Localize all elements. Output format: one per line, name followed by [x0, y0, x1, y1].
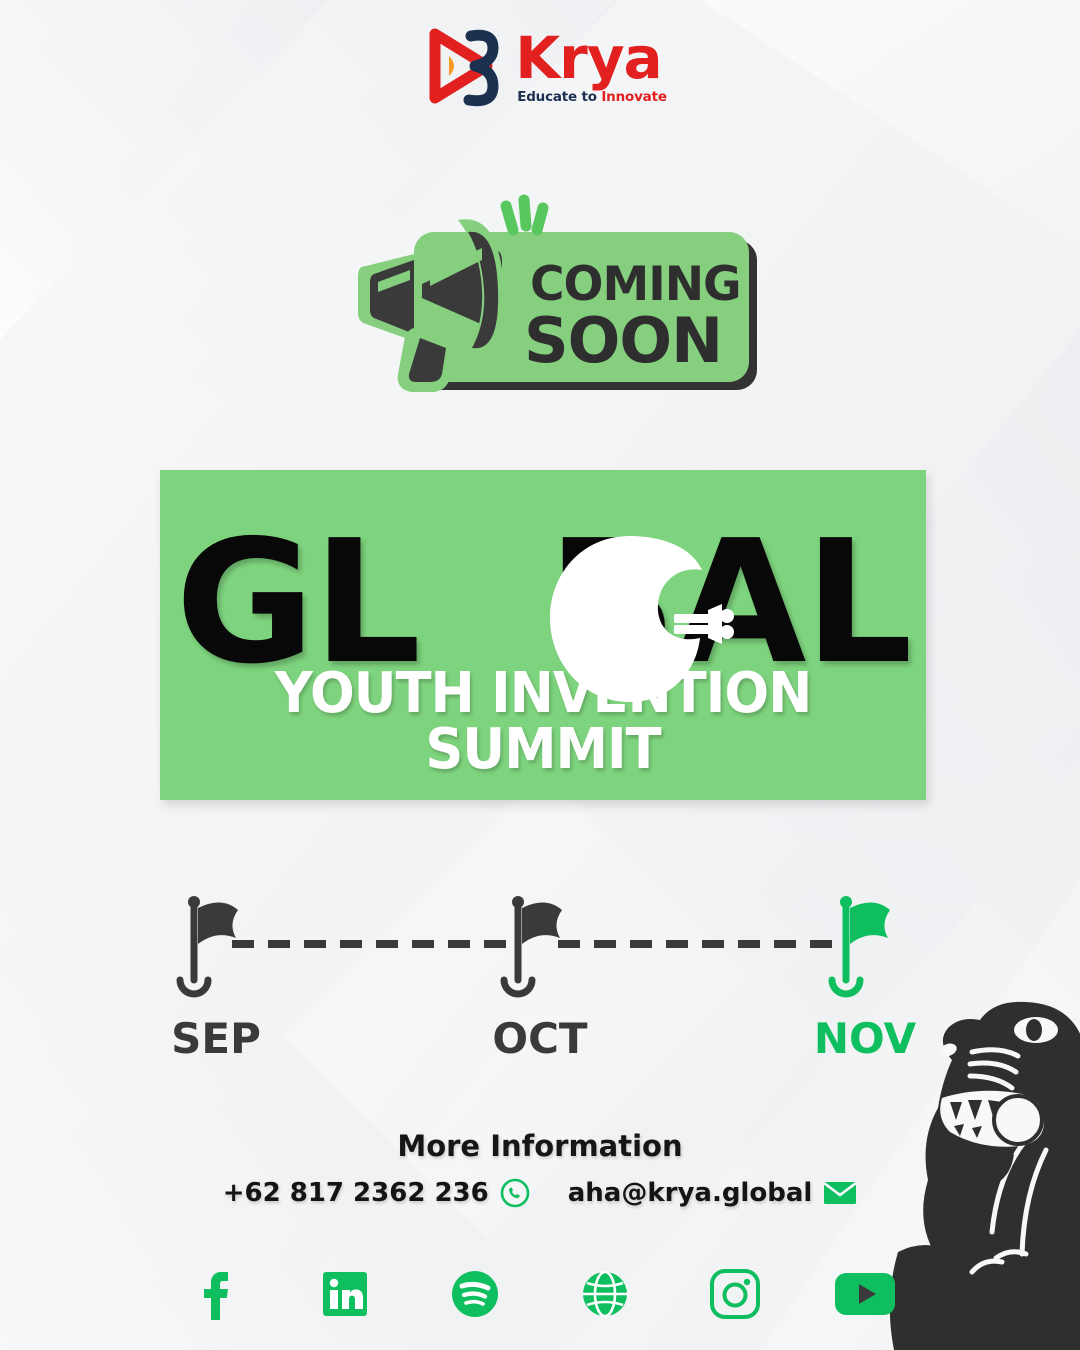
banner-subtitle: YOUTH INVENTION SUMMIT — [183, 666, 903, 778]
social-links-row — [0, 1268, 1080, 1320]
flag-icon-nov[interactable] — [832, 896, 890, 994]
krya-logo-mark-icon — [413, 22, 509, 114]
coming-soon-badge: COMING SOON — [318, 178, 768, 428]
flag-icon-oct[interactable] — [504, 896, 562, 994]
social-link-facebook[interactable] — [150, 1268, 280, 1320]
timeline-label-oct: OCT — [440, 1018, 640, 1060]
instagram-icon[interactable] — [709, 1268, 761, 1320]
contact-details-row: +62 817 2362 236 aha@krya.global — [0, 1178, 1080, 1208]
social-link-instagram[interactable] — [670, 1268, 800, 1320]
event-timeline: SEP OCT NOV — [0, 880, 1080, 1070]
social-link-website[interactable] — [540, 1269, 670, 1319]
youtube-icon[interactable] — [834, 1272, 896, 1316]
timeline-label-nov: NOV — [765, 1018, 965, 1060]
logo-wordmark: Krya — [515, 31, 662, 86]
spotify-icon[interactable] — [450, 1269, 500, 1319]
event-title-banner: GLBAL YOUTH INVENTION SUMMIT — [160, 470, 926, 800]
social-link-youtube[interactable] — [800, 1272, 930, 1316]
tagline-part-one: Educate to — [517, 89, 601, 105]
social-link-linkedin[interactable] — [280, 1270, 410, 1318]
logo-tagline: Educate to Innovate — [517, 89, 667, 105]
coming-soon-line-2: SOON — [524, 304, 722, 377]
whatsapp-icon[interactable] — [500, 1178, 530, 1208]
flag-icon-sep[interactable] — [180, 896, 238, 994]
email-address[interactable]: aha@krya.global — [568, 1180, 813, 1206]
phone-number[interactable]: +62 817 2362 236 — [223, 1180, 489, 1206]
motion-rays-icon — [506, 200, 543, 230]
contact-heading: More Information — [0, 1132, 1080, 1161]
envelope-icon[interactable] — [823, 1180, 857, 1206]
globe-icon[interactable] — [580, 1269, 630, 1319]
facebook-icon[interactable] — [197, 1268, 233, 1320]
timeline-label-sep: SEP — [116, 1018, 316, 1060]
social-link-spotify[interactable] — [410, 1269, 540, 1319]
tagline-part-two: Innovate — [601, 89, 666, 105]
linkedin-icon[interactable] — [321, 1270, 369, 1318]
bulb-base-icon — [674, 604, 734, 644]
lightbulb-icon — [546, 532, 736, 707]
brand-logo: Krya Educate to Innovate — [0, 22, 1080, 114]
contact-section: More Information +62 817 2362 236 aha@kr… — [0, 1132, 1080, 1208]
